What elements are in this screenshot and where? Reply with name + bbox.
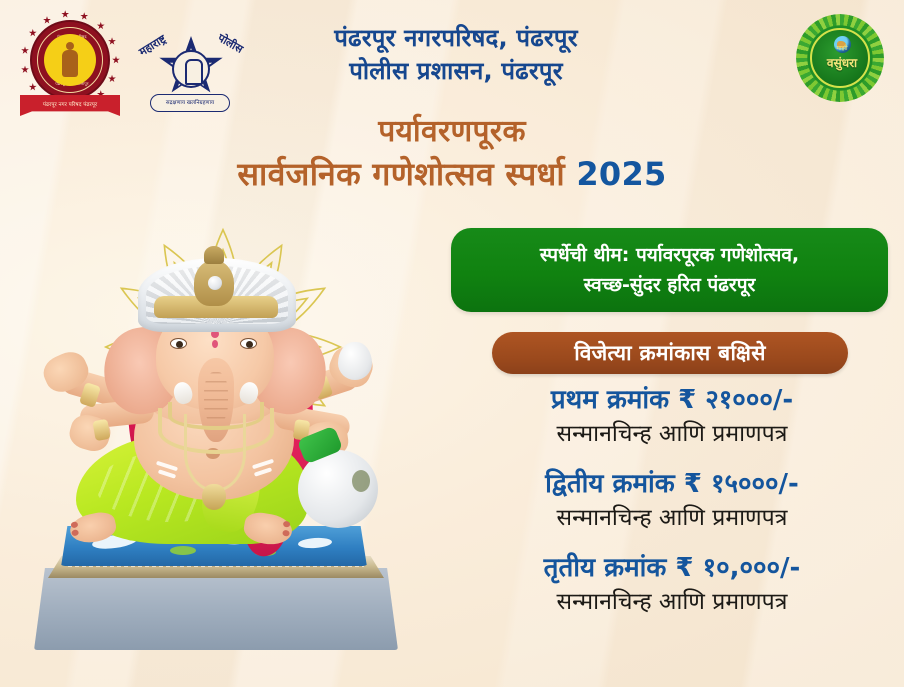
prize-item-second: द्वितीय क्रमांक ₹ १५०००/- सन्मानचिन्ह आण… bbox=[440, 466, 904, 535]
page-title: पर्यावरणपूरक सार्वजनिक गणेशोत्सव स्पर्धा… bbox=[60, 112, 844, 196]
police-motto-scroll: सद्रक्षणाय खलनिग्रहणाय bbox=[150, 94, 230, 112]
majhi-vasundhara-logo-icon: माझी वसुंधरा bbox=[790, 8, 890, 108]
prize-first-sub: सन्मानचिन्ह आणि प्रमाणपत्र bbox=[440, 418, 904, 451]
organization-title: पंढरपूर नगरपरिषद, पंढरपूर पोलीस प्रशासन,… bbox=[256, 22, 656, 88]
theme-banner-line-1: स्पर्धेची थीम: पर्यावरपूरक गणेशोत्सव, bbox=[540, 240, 799, 270]
deity-figure-icon bbox=[60, 42, 80, 78]
organization-line-2: पोलीस प्रशासन, पंढरपूर bbox=[256, 55, 656, 88]
idol-base-slab bbox=[34, 568, 398, 650]
prize-third-sub: सन्मानचिन्ह आणि प्रमाणपत्र bbox=[440, 586, 904, 619]
ganesh-idol-artwork bbox=[8, 196, 438, 676]
police-hand-emblem-icon bbox=[172, 50, 210, 88]
prize-third-amount: तृतीय क्रमांक ₹ १०,०००/- bbox=[440, 550, 904, 586]
prize-list: प्रथम क्रमांक ₹ २१०००/- सन्मानचिन्ह आणि … bbox=[440, 382, 904, 634]
theme-banner-line-2: स्वच्छ-सुंदर हरित पंढरपूर bbox=[584, 270, 756, 300]
poster-canvas: पंढरपूर नगरपरिषद पंढरपूर, जि. सोलापूर पं… bbox=[0, 0, 904, 687]
idol-eye-left bbox=[170, 338, 187, 349]
maharashtra-police-emblem-icon: महाराष्ट्र पोलीस सद्रक्षणाय खलनिग्रहणाय bbox=[136, 20, 244, 116]
page-title-line-2-text: सार्वजनिक गणेशोत्सव स्पर्धा bbox=[237, 155, 576, 193]
prize-header-badge: विजेत्या क्रमांकास बक्षिसे bbox=[492, 332, 848, 374]
idol-bangle-2 bbox=[92, 419, 110, 441]
prize-second-amount: द्वितीय क्रमांक ₹ १५०००/- bbox=[440, 466, 904, 502]
page-title-line-2: सार्वजनिक गणेशोत्सव स्पर्धा 2025 bbox=[60, 152, 844, 196]
idol-mala bbox=[184, 414, 246, 492]
vasundhara-script-text: वसुंधरा bbox=[812, 54, 872, 71]
organization-line-1: पंढरपूर नगरपरिषद, पंढरपूर bbox=[256, 22, 656, 55]
police-arc-left: महाराष्ट्र bbox=[136, 31, 169, 59]
prize-item-third: तृतीय क्रमांक ₹ १०,०००/- सन्मानचिन्ह आणि… bbox=[440, 550, 904, 619]
pandharpur-nagarparishad-seal-icon: पंढरपूर नगरपरिषद पंढरपूर, जि. सोलापूर पं… bbox=[16, 12, 124, 116]
page-title-line-1: पर्यावरणपूरक bbox=[60, 112, 844, 152]
prize-first-amount: प्रथम क्रमांक ₹ २१०००/- bbox=[440, 382, 904, 418]
poster-header: पंढरपूर नगरपरिषद पंढरपूर, जि. सोलापूर पं… bbox=[0, 0, 904, 118]
prize-item-first: प्रथम क्रमांक ₹ २१०००/- सन्मानचिन्ह आणि … bbox=[440, 382, 904, 451]
seal-outer-ring: पंढरपूर नगरपरिषद पंढरपूर, जि. सोलापूर bbox=[30, 20, 110, 100]
prize-second-sub: सन्मानचिन्ह आणि प्रमाणपत्र bbox=[440, 502, 904, 535]
police-arc-right: पोलीस bbox=[215, 30, 246, 56]
kalash-pot-marking bbox=[352, 470, 370, 492]
idol-eye-right bbox=[240, 338, 257, 349]
idol-crown-jewel bbox=[208, 276, 222, 290]
modak-icon bbox=[338, 342, 372, 380]
page-title-year: 2025 bbox=[576, 155, 666, 193]
prize-header-label: विजेत्या क्रमांकास बक्षिसे bbox=[574, 339, 766, 367]
idol-pendant bbox=[202, 484, 226, 510]
idol-crown-finial bbox=[204, 246, 224, 264]
theme-banner: स्पर्धेची थीम: पर्यावरपूरक गणेशोत्सव, स्… bbox=[451, 228, 888, 312]
vasundhara-small-text: माझी bbox=[812, 44, 872, 52]
vasundhara-disc: माझी वसुंधरा bbox=[810, 28, 870, 88]
seal-inner-disc bbox=[44, 34, 96, 86]
ganesh-idol-figure bbox=[8, 196, 438, 676]
